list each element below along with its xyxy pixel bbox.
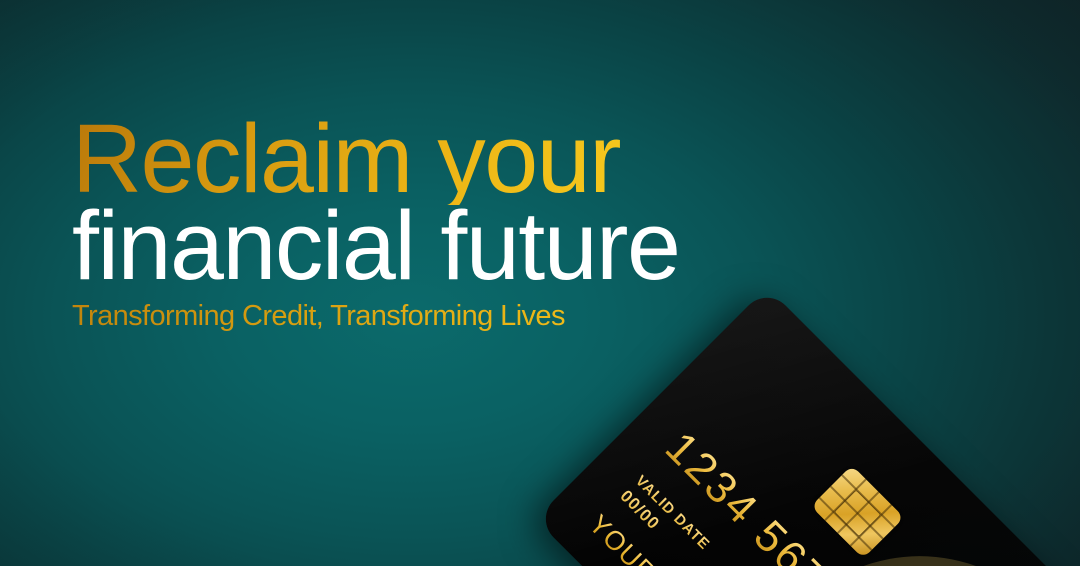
headline-word-future: future — [440, 191, 679, 300]
hero-text-block: Reclaim your financialfuture Transformin… — [72, 112, 872, 333]
headline-line-2: financialfuture — [72, 197, 872, 294]
headline-word-financial: financial — [72, 191, 414, 300]
hero-banner: Reclaim your financialfuture Transformin… — [0, 0, 1080, 566]
